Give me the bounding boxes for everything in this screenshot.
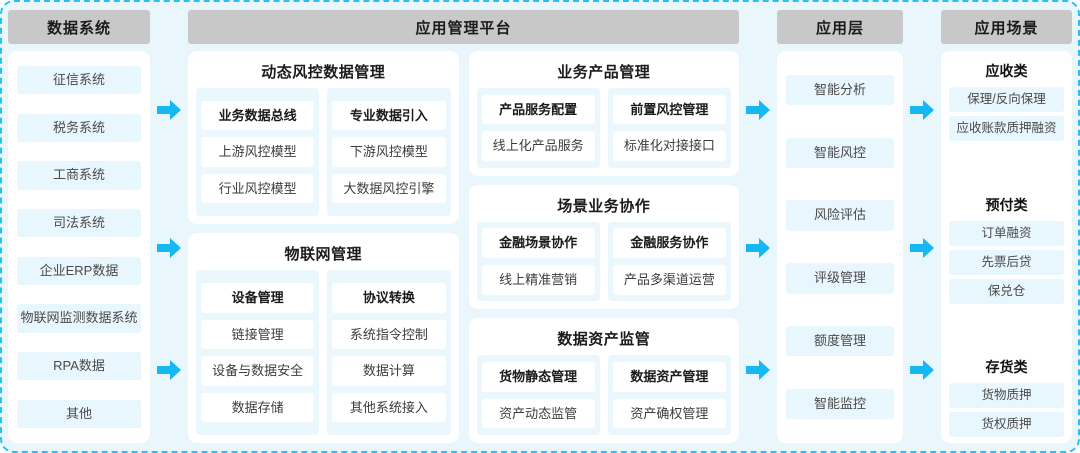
chip-app-layer-1[interactable]: 智能风控 (786, 138, 894, 168)
chip-data-system-3[interactable]: 司法系统 (17, 209, 141, 237)
flow-arrow-right-icon (909, 236, 935, 260)
tile-item[interactable]: 线上化产品服务 (482, 131, 595, 161)
tile-item[interactable]: 数据资产管理 (613, 362, 726, 392)
group-sub-left: 货物静态管理 资产动态监管 (477, 355, 600, 435)
group-sub-right: 前置风控管理 标准化对接接口 (608, 88, 731, 168)
arrow-gutter-1 (150, 10, 188, 443)
column-header-data-systems: 数据系统 (8, 10, 150, 44)
tile-item[interactable]: 数据存储 (201, 393, 314, 423)
column-header-platform: 应用管理平台 (188, 10, 739, 44)
scene-group-inventory: 存货类 货物质押 货权质押 (949, 353, 1064, 437)
column-application-scenarios: 应用场景 应收类 保理/反向保理 应收账款质押融资 预付类 订单融资 先票后贷 … (941, 10, 1072, 443)
column-header-application-layer: 应用层 (777, 10, 903, 44)
tile-item[interactable]: 系统指令控制 (332, 320, 445, 350)
chip-app-layer-5[interactable]: 智能监控 (786, 389, 894, 419)
tile-item[interactable]: 协议转换 (332, 283, 445, 313)
column-application-layer: 应用层 智能分析 智能风控 风险评估 评级管理 额度管理 智能监控 (777, 10, 903, 443)
platform-half-right: 业务产品管理 产品服务配置 线上化产品服务 前置风控管理 标准化对接接口 场景业… (469, 51, 740, 443)
tile-item[interactable]: 设备管理 (201, 283, 314, 313)
tile-item[interactable]: 设备与数据安全 (201, 356, 314, 386)
tile-item[interactable]: 资产动态监管 (482, 399, 595, 429)
group-title-business-product-management: 业务产品管理 (477, 57, 732, 88)
group-sub-right: 数据资产管理 资产确权管理 (608, 355, 731, 435)
scene-chip[interactable]: 应收账款质押融资 (949, 116, 1064, 141)
column-body-application-layer: 智能分析 智能风控 风险评估 评级管理 额度管理 智能监控 (777, 51, 903, 443)
column-body-application-scenarios: 应收类 保理/反向保理 应收账款质押融资 预付类 订单融资 先票后贷 保兑仓 存… (941, 51, 1072, 443)
group-card-business-product-management: 业务产品管理 产品服务配置 线上化产品服务 前置风控管理 标准化对接接口 (469, 51, 740, 176)
tile-item[interactable]: 金融服务协作 (613, 228, 726, 258)
tile-item[interactable]: 线上精准营销 (482, 265, 595, 295)
scene-chip[interactable]: 货物质押 (949, 383, 1064, 408)
flow-arrow-right-icon (745, 98, 771, 122)
chip-data-system-6[interactable]: RPA数据 (17, 352, 141, 380)
tile-item[interactable]: 大数据风控引擎 (332, 174, 445, 204)
group-sub-left: 业务数据总线 上游风控模型 行业风控模型 (196, 88, 319, 216)
chip-data-system-1[interactable]: 税务系统 (17, 114, 141, 142)
group-card-iot-management: 物联网管理 设备管理 链接管理 设备与数据安全 数据存储 协议转换 系统指令控制… (188, 233, 459, 443)
flow-arrow-right-icon (909, 98, 935, 122)
tile-item[interactable]: 其他系统接入 (332, 393, 445, 423)
tile-item[interactable]: 行业风控模型 (201, 174, 314, 204)
scene-group-title: 存货类 (949, 353, 1064, 379)
tile-item[interactable]: 金融场景协作 (482, 228, 595, 258)
flow-arrow-right-icon (156, 98, 182, 122)
chip-app-layer-2[interactable]: 风险评估 (786, 200, 894, 230)
chip-data-system-2[interactable]: 工商系统 (17, 161, 141, 189)
tile-item[interactable]: 产品多渠道运营 (613, 265, 726, 295)
scene-chip[interactable]: 保兑仓 (949, 279, 1064, 304)
scene-chip[interactable]: 订单融资 (949, 221, 1064, 246)
group-card-data-asset-supervision: 数据资产监管 货物静态管理 资产动态监管 数据资产管理 资产确权管理 (469, 318, 740, 443)
group-sub-left: 产品服务配置 线上化产品服务 (477, 88, 600, 168)
scene-group-prepayment: 预付类 订单融资 先票后贷 保兑仓 (949, 191, 1064, 304)
architecture-diagram: 数据系统 征信系统 税务系统 工商系统 司法系统 企业ERP数据 物联网监测数据… (0, 0, 1080, 453)
flow-arrow-right-icon (745, 358, 771, 382)
arrow-gutter-2 (739, 10, 777, 443)
chip-app-layer-4[interactable]: 额度管理 (786, 326, 894, 356)
scene-chip[interactable]: 先票后贷 (949, 250, 1064, 275)
chip-data-system-0[interactable]: 征信系统 (17, 66, 141, 94)
tile-item[interactable]: 标准化对接接口 (613, 131, 726, 161)
column-header-application-scenarios: 应用场景 (941, 10, 1072, 44)
group-sub-left: 金融场景协作 线上精准营销 (477, 222, 600, 302)
chip-data-system-5[interactable]: 物联网监测数据系统 (17, 304, 141, 332)
group-title-scenario-business-collaboration: 场景业务协作 (477, 191, 732, 222)
tile-item[interactable]: 下游风控模型 (332, 137, 445, 167)
chip-app-layer-3[interactable]: 评级管理 (786, 263, 894, 293)
group-title-data-asset-supervision: 数据资产监管 (477, 324, 732, 355)
tile-item[interactable]: 上游风控模型 (201, 137, 314, 167)
group-title-dynamic-risk-data: 动态风控数据管理 (196, 57, 451, 88)
group-title-iot-management: 物联网管理 (196, 239, 451, 270)
group-sub-right: 协议转换 系统指令控制 数据计算 其他系统接入 (327, 270, 450, 435)
scene-chip[interactable]: 货权质押 (949, 412, 1064, 437)
group-sub-right: 专业数据引入 下游风控模型 大数据风控引擎 (327, 88, 450, 216)
group-card-scenario-business-collaboration: 场景业务协作 金融场景协作 线上精准营销 金融服务协作 产品多渠道运营 (469, 185, 740, 310)
chip-app-layer-0[interactable]: 智能分析 (786, 75, 894, 105)
chip-data-system-4[interactable]: 企业ERP数据 (17, 257, 141, 285)
column-data-systems: 数据系统 征信系统 税务系统 工商系统 司法系统 企业ERP数据 物联网监测数据… (8, 10, 150, 443)
chip-data-system-7[interactable]: 其他 (17, 400, 141, 428)
scene-group-receivables: 应收类 保理/反向保理 应收账款质押融资 (949, 57, 1064, 141)
column-body-data-systems: 征信系统 税务系统 工商系统 司法系统 企业ERP数据 物联网监测数据系统 RP… (8, 51, 150, 443)
flow-arrow-right-icon (745, 236, 771, 260)
scene-group-title: 预付类 (949, 191, 1064, 217)
tile-item[interactable]: 链接管理 (201, 320, 314, 350)
tile-item[interactable]: 业务数据总线 (201, 101, 314, 131)
column-application-management-platform: 应用管理平台 动态风控数据管理 业务数据总线 上游风控模型 行业风控模型 专业数… (188, 10, 739, 443)
group-sub-right: 金融服务协作 产品多渠道运营 (608, 222, 731, 302)
group-sub-left: 设备管理 链接管理 设备与数据安全 数据存储 (196, 270, 319, 435)
tile-item[interactable]: 产品服务配置 (482, 95, 595, 125)
tile-item[interactable]: 专业数据引入 (332, 101, 445, 131)
tile-item[interactable]: 数据计算 (332, 356, 445, 386)
platform-half-left: 动态风控数据管理 业务数据总线 上游风控模型 行业风控模型 专业数据引入 下游风… (188, 51, 459, 443)
flow-arrow-right-icon (156, 236, 182, 260)
tile-item[interactable]: 前置风控管理 (613, 95, 726, 125)
flow-arrow-right-icon (909, 358, 935, 382)
tile-item[interactable]: 资产确权管理 (613, 399, 726, 429)
group-card-dynamic-risk-data: 动态风控数据管理 业务数据总线 上游风控模型 行业风控模型 专业数据引入 下游风… (188, 51, 459, 224)
flow-arrow-right-icon (156, 358, 182, 382)
platform-body: 动态风控数据管理 业务数据总线 上游风控模型 行业风控模型 专业数据引入 下游风… (188, 51, 739, 443)
scene-chip[interactable]: 保理/反向保理 (949, 87, 1064, 112)
arrow-gutter-3 (903, 10, 941, 443)
tile-item[interactable]: 货物静态管理 (482, 362, 595, 392)
scene-group-title: 应收类 (949, 57, 1064, 83)
